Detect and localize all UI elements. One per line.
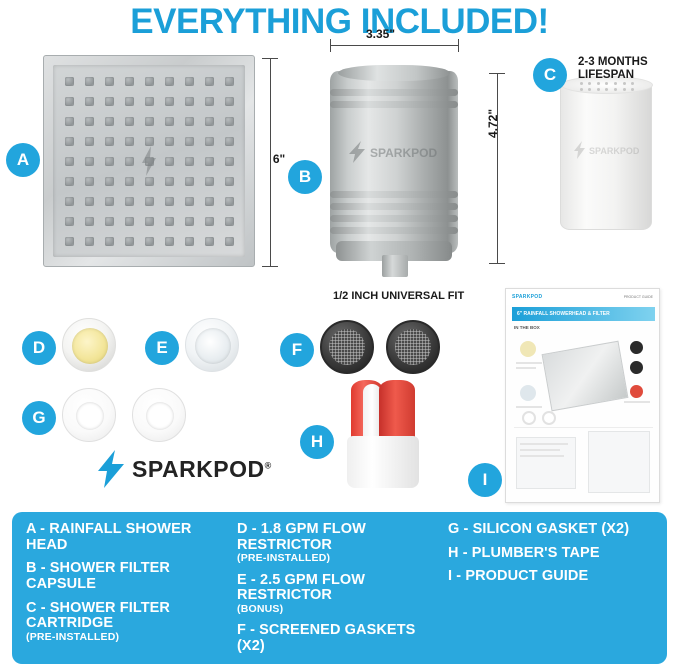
nozzle <box>145 217 154 226</box>
nozzle <box>145 137 154 146</box>
capsule-ring <box>330 203 458 210</box>
dimension-cap-top <box>489 73 505 74</box>
nozzle <box>165 77 174 86</box>
guide-line <box>520 449 560 451</box>
legend-item-f: F - SCREENED GASKETS (X2) <box>237 623 442 654</box>
lifespan-label: 2-3 MONTHS LIFESPAN <box>578 56 678 82</box>
legend-item-a: A - RAINFALL SHOWER HEAD <box>26 522 231 553</box>
nozzle <box>85 77 94 86</box>
nozzle <box>125 97 134 106</box>
nozzle <box>185 217 194 226</box>
capsule-top <box>338 65 450 81</box>
nozzle <box>145 117 154 126</box>
legend-item-d-note: (PRE-INSTALLED) <box>237 553 442 564</box>
nozzle <box>205 157 214 166</box>
guide-header: SPARKPOD PRODUCT GUIDE <box>506 289 659 305</box>
legend-item-b: B - SHOWER FILTER CAPSULE <box>26 561 231 592</box>
guide-showerhead-illustration <box>542 341 629 412</box>
legend-item-i: I - PRODUCT GUIDE <box>448 569 653 585</box>
legend-item-c: C - SHOWER FILTER CARTRIDGE (PRE-INSTALL… <box>26 601 231 644</box>
dimension-line-filter-height <box>497 73 498 263</box>
dimension-label-showerhead-height: 6" <box>272 152 286 166</box>
nozzle <box>105 77 114 86</box>
sparkpod-wordmark: SPARKPOD® <box>96 450 272 488</box>
guide-band-title: 6" RAINFALL SHOWERHEAD & FILTER <box>517 311 610 317</box>
dimension-line-filter-width <box>330 45 458 46</box>
sparkpod-logo-icon: SPARKPOD <box>348 141 440 163</box>
universal-fit-label: 1/2 INCH UNIVERSAL FIT <box>333 290 464 302</box>
nozzle <box>105 157 114 166</box>
nozzle <box>185 117 194 126</box>
dimension-cap-bottom <box>262 266 278 267</box>
silicon-gasket-image <box>132 388 186 442</box>
nozzle <box>85 157 94 166</box>
nozzle <box>85 177 94 186</box>
legend-item-g-text: G - SILICON GASKET (X2) <box>448 521 629 537</box>
guide-subtitle: IN THE BOX <box>514 325 540 330</box>
nozzle <box>165 117 174 126</box>
capsule-ring <box>330 101 458 108</box>
nozzle <box>65 77 74 86</box>
nozzle <box>105 217 114 226</box>
callout-badge-g: G <box>22 401 56 435</box>
nozzle <box>125 217 134 226</box>
nozzle <box>85 97 94 106</box>
nozzle <box>225 137 234 146</box>
nozzle <box>205 197 214 206</box>
nozzle <box>225 117 234 126</box>
legend-item-e-note: (BONUS) <box>237 604 442 615</box>
legend-column-1: A - RAINFALL SHOWER HEAD B - SHOWER FILT… <box>26 522 231 656</box>
gasket-hole <box>146 402 174 430</box>
gasket-mesh <box>329 329 365 365</box>
nozzle <box>65 237 74 246</box>
legend-item-a-text: A - RAINFALL SHOWER HEAD <box>26 521 191 553</box>
guide-line <box>516 367 536 369</box>
callout-badge-d: D <box>22 331 56 365</box>
cartridge-hole <box>580 88 583 91</box>
capsule-thread <box>382 255 408 277</box>
legend-item-g: G - SILICON GASKET (X2) <box>448 522 653 538</box>
nozzle <box>65 177 74 186</box>
nozzle <box>185 137 194 146</box>
legend-item-b-text: B - SHOWER FILTER CAPSULE <box>26 560 170 592</box>
nozzle <box>185 157 194 166</box>
nozzle <box>85 237 94 246</box>
shower-filter-capsule-image: SPARKPOD <box>330 63 458 265</box>
capsule-ring <box>330 89 458 96</box>
nozzle <box>125 177 134 186</box>
callout-badge-b: B <box>288 160 322 194</box>
cartridge-hole <box>623 88 626 91</box>
sparkpod-wordmark-text: SPARKPOD® <box>132 456 272 483</box>
nozzle <box>105 117 114 126</box>
nozzle <box>225 77 234 86</box>
guide-title-band: 6" RAINFALL SHOWERHEAD & FILTER <box>512 307 655 321</box>
nozzle <box>145 197 154 206</box>
screened-gasket-image <box>386 320 440 374</box>
nozzle <box>165 177 174 186</box>
flow-restrictor-1-8-gpm-image <box>62 318 116 372</box>
nozzle <box>85 217 94 226</box>
nozzle <box>205 77 214 86</box>
nozzle <box>205 217 214 226</box>
nozzle <box>165 197 174 206</box>
nozzle <box>65 197 74 206</box>
nozzle <box>65 137 74 146</box>
flow-restrictor-2-5-gpm-image <box>185 318 239 372</box>
nozzle <box>185 97 194 106</box>
dimension-label-filter-width: 3.35" <box>366 27 395 41</box>
callout-badge-h: H <box>300 425 334 459</box>
nozzle <box>165 217 174 226</box>
rainfall-shower-head-image <box>43 55 255 267</box>
nozzle <box>205 137 214 146</box>
dimension-cap-top <box>262 58 278 59</box>
nozzle <box>225 157 234 166</box>
guide-dot-restrictor <box>520 341 536 357</box>
guide-dot-screen <box>630 341 643 354</box>
nozzle <box>205 177 214 186</box>
dimension-cap-left <box>330 39 331 52</box>
nozzle <box>145 77 154 86</box>
guide-line <box>516 406 542 408</box>
nozzle <box>205 97 214 106</box>
nozzle <box>65 117 74 126</box>
nozzle <box>225 177 234 186</box>
callout-badge-e: E <box>145 331 179 365</box>
legend-panel: A - RAINFALL SHOWER HEAD B - SHOWER FILT… <box>12 512 667 664</box>
nozzle <box>105 177 114 186</box>
nozzle <box>125 237 134 246</box>
nozzle <box>125 117 134 126</box>
guide-line <box>520 455 564 457</box>
plumbers-tape-image <box>345 380 421 490</box>
shower-filter-cartridge-image: SPARKPOD <box>560 80 652 230</box>
legend-item-c-note: (PRE-INSTALLED) <box>26 632 231 643</box>
nozzle <box>165 97 174 106</box>
nozzle <box>65 97 74 106</box>
cartridge-hole <box>614 88 617 91</box>
nozzle <box>105 197 114 206</box>
nozzle <box>65 157 74 166</box>
guide-dot-gasket <box>520 385 536 401</box>
legend-column-2: D - 1.8 GPM FLOW RESTRICTOR (PRE-INSTALL… <box>237 522 442 656</box>
nozzle <box>105 137 114 146</box>
svg-text:SPARKPOD: SPARKPOD <box>589 146 640 156</box>
nozzle <box>125 197 134 206</box>
guide-line <box>520 443 568 445</box>
dimension-cap-right <box>458 39 459 52</box>
nozzle <box>225 97 234 106</box>
nozzle <box>165 157 174 166</box>
cartridge-hole <box>597 88 600 91</box>
cartridge-hole <box>588 88 591 91</box>
dimension-line-showerhead-height <box>270 58 271 266</box>
guide-kicker-label: PRODUCT GUIDE <box>624 295 653 299</box>
guide-dot-silicon-gasket <box>522 411 536 425</box>
cartridge-hole <box>605 88 608 91</box>
capsule-ring <box>330 191 458 198</box>
callout-badge-i: I <box>468 463 502 497</box>
gasket-hole <box>76 402 104 430</box>
sparkpod-bolt-icon <box>96 450 126 488</box>
gasket-mesh <box>395 329 431 365</box>
nozzle <box>65 217 74 226</box>
guide-dot-screen <box>630 361 643 374</box>
guide-line <box>624 401 650 403</box>
legend-item-c-text: C - SHOWER FILTER CARTRIDGE <box>26 600 170 632</box>
legend-item-h-text: H - PLUMBER'S TAPE <box>448 545 600 561</box>
nozzle <box>185 197 194 206</box>
guide-dot-tape <box>630 385 643 398</box>
nozzle <box>225 237 234 246</box>
restrictor-core <box>72 328 108 364</box>
legend-column-3: G - SILICON GASKET (X2) H - PLUMBER'S TA… <box>448 522 653 656</box>
legend-item-e: E - 2.5 GPM FLOW RESTRICTOR (BONUS) <box>237 573 442 616</box>
callout-badge-f: F <box>280 333 314 367</box>
nozzle <box>85 137 94 146</box>
nozzle <box>185 237 194 246</box>
brand-registered-mark: ® <box>265 460 272 470</box>
nozzle <box>205 237 214 246</box>
nozzle <box>225 197 234 206</box>
sparkpod-logo-icon: SPARKPOD <box>573 141 641 159</box>
nozzle <box>125 137 134 146</box>
nozzle <box>225 217 234 226</box>
silicon-gasket-image <box>62 388 116 442</box>
nozzle <box>185 77 194 86</box>
nozzle <box>145 97 154 106</box>
dimension-cap-bottom <box>489 263 505 264</box>
legend-item-d: D - 1.8 GPM FLOW RESTRICTOR (PRE-INSTALL… <box>237 522 442 565</box>
legend-item-i-text: I - PRODUCT GUIDE <box>448 568 588 584</box>
sparkpod-bolt-icon <box>141 146 157 176</box>
screened-gasket-image <box>320 320 374 374</box>
product-guide-image: SPARKPOD PRODUCT GUIDE 6" RAINFALL SHOWE… <box>505 288 660 503</box>
restrictor-core <box>195 328 231 364</box>
brand-name: SPARKPOD <box>132 456 265 482</box>
nozzle <box>125 157 134 166</box>
nozzle <box>185 177 194 186</box>
nozzle <box>105 97 114 106</box>
legend-item-d-text: D - 1.8 GPM FLOW RESTRICTOR <box>237 521 366 553</box>
nozzle <box>125 77 134 86</box>
nozzle <box>145 177 154 186</box>
capsule-ring <box>330 227 458 234</box>
nozzle <box>165 137 174 146</box>
legend-item-h: H - PLUMBER'S TAPE <box>448 546 653 562</box>
svg-text:SPARKPOD: SPARKPOD <box>370 146 437 160</box>
guide-line <box>516 362 542 364</box>
nozzle <box>145 237 154 246</box>
callout-badge-c: C <box>533 58 567 92</box>
capsule-ring <box>330 215 458 222</box>
nozzle <box>165 237 174 246</box>
callout-badge-a: A <box>6 143 40 177</box>
nozzle <box>85 117 94 126</box>
guide-panel-right <box>588 431 650 493</box>
guide-dot-silicon-gasket <box>542 411 556 425</box>
page-title: EVERYTHING INCLUDED! <box>0 2 679 42</box>
dimension-label-filter-height: 4.72" <box>486 109 500 138</box>
legend-item-f-text: F - SCREENED GASKETS (X2) <box>237 622 415 654</box>
tape-base <box>347 436 419 488</box>
nozzle <box>105 237 114 246</box>
nozzle <box>205 117 214 126</box>
legend-item-e-text: E - 2.5 GPM FLOW RESTRICTOR <box>237 572 365 604</box>
nozzle <box>85 197 94 206</box>
guide-brand-label: SPARKPOD <box>512 294 542 300</box>
cartridge-hole <box>631 88 634 91</box>
